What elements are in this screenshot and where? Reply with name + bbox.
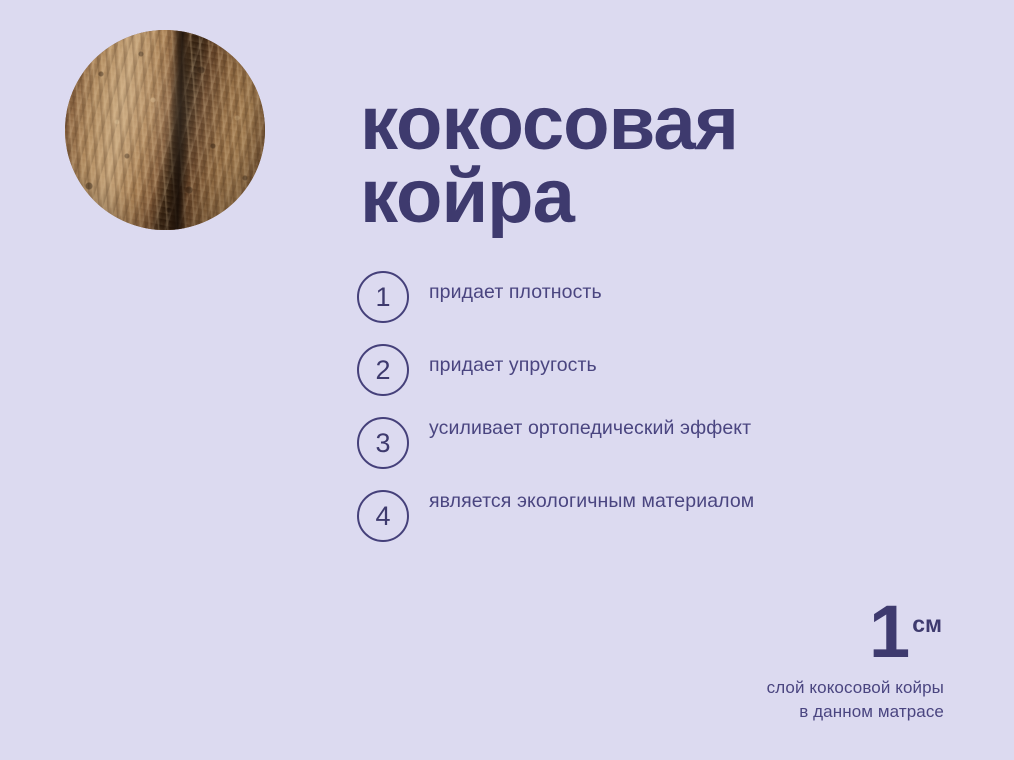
measure-caption-line-1: слой кокосовой койры: [614, 676, 944, 700]
list-item: 1 придает плотность: [357, 271, 777, 344]
benefit-label: придает плотность: [429, 279, 769, 307]
list-item: 4 является экологичным материалом: [357, 490, 777, 563]
measure-number: 1: [869, 590, 909, 673]
page-title-line-1: кокосовая: [360, 88, 920, 161]
measure-caption: слой кокосовой койры в данном матрасе: [614, 676, 944, 724]
list-item: 3 усиливает ортопедический эффект: [357, 417, 777, 490]
page-title-line-2: койра: [360, 161, 920, 234]
slide-canvas: кокосовая койра 1 придает плотность 2 пр…: [0, 0, 1014, 760]
list-item: 2 придает упругость: [357, 344, 777, 417]
benefit-label: придает упругость: [429, 352, 769, 380]
measure-value-row: 1см: [614, 599, 944, 666]
benefit-label: усиливает ортопедический эффект: [429, 415, 769, 443]
benefit-number-badge: 4: [357, 490, 409, 542]
benefit-list: 1 придает плотность 2 придает упругость …: [357, 271, 777, 563]
benefit-number-badge: 2: [357, 344, 409, 396]
coconut-coir-photo: [65, 30, 265, 230]
benefit-label: является экологичным материалом: [429, 488, 769, 516]
measure-value: 1см: [614, 599, 942, 666]
page-title: кокосовая койра: [360, 88, 920, 234]
layer-thickness-callout: 1см слой кокосовой койры в данном матрас…: [614, 599, 944, 724]
benefit-number-badge: 1: [357, 271, 409, 323]
measure-unit: см: [912, 611, 942, 637]
benefit-number-badge: 3: [357, 417, 409, 469]
measure-caption-line-2: в данном матрасе: [614, 700, 944, 724]
coir-vignette: [65, 30, 265, 230]
